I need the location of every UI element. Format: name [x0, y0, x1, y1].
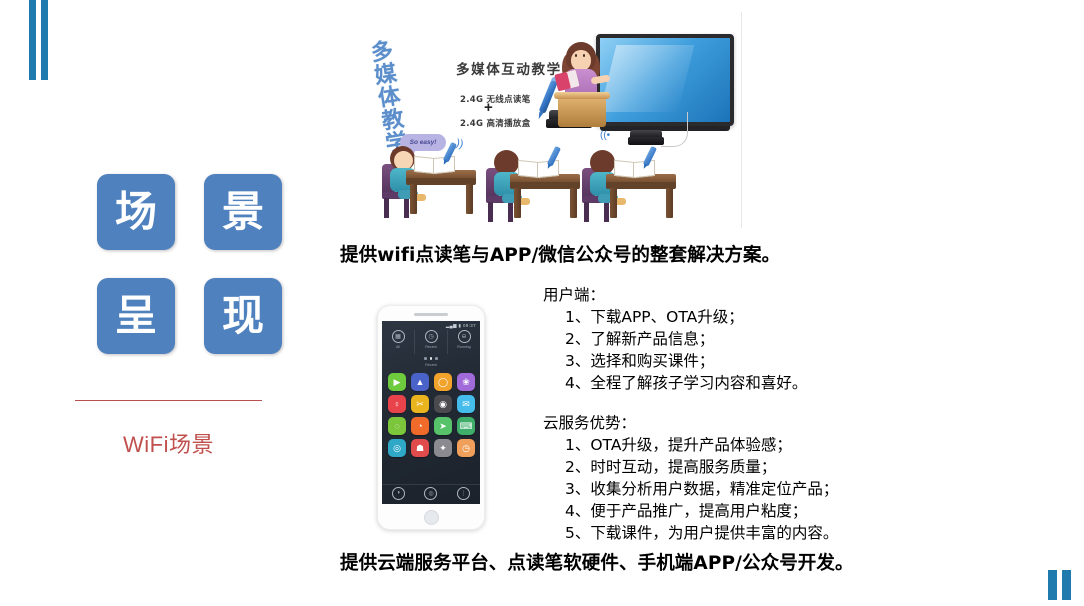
user-section: 用户端： 1、下载APP、OTA升级； 2、了解新产品信息； 3、选择和购买课件… [543, 284, 807, 394]
cloud-section-item: 5、下载课件，为用户提供丰富的内容。 [565, 522, 838, 544]
user-section-item: 1、下载APP、OTA升级； [565, 306, 807, 328]
accent-bar [1062, 570, 1071, 600]
home-button[interactable] [424, 510, 439, 525]
scene-char-grid: 场 景 呈 现 [97, 174, 282, 354]
smartphone-mockup: ▂▄▆ ▮ 09:37 ▦ All ◷ Recent ⊖ Running [377, 305, 485, 530]
user-section-title: 用户端： [543, 284, 807, 306]
tab-label: All [396, 345, 400, 349]
student-at-desk-icon [576, 140, 680, 228]
cloud-section-item: 1、OTA升级，提升产品体验感； [565, 434, 838, 456]
char-box-chang[interactable]: 场 [97, 174, 175, 250]
cloud-section: 云服务优势： 1、OTA升级，提升产品体验感； 2、时时互动，提高服务质量； 3… [543, 412, 838, 544]
clock-icon: ◷ [425, 330, 438, 343]
app-bulb[interactable]: ♀ [388, 395, 406, 413]
accent-bar [1048, 570, 1057, 600]
dock-home-icon[interactable]: ◎ [424, 487, 437, 500]
app-target[interactable]: ◉ [434, 395, 452, 413]
grid-icon: ▦ [392, 330, 405, 343]
wifi-scene-caption: WiFi场景 [75, 427, 262, 459]
app-clover[interactable]: ❀ [457, 373, 475, 391]
user-section-item: 4、全程了解孩子学习内容和喜好。 [565, 372, 807, 394]
app-play[interactable]: ▶ [388, 373, 406, 391]
user-section-item: 3、选择和购买课件； [565, 350, 807, 372]
headline-top: 提供wifi点读笔与APP/微信公众号的整套解决方案。 [340, 241, 780, 267]
dock-back-icon[interactable]: ◑ [392, 487, 405, 500]
app-gallery[interactable]: ▲ [411, 373, 429, 391]
tab-recent[interactable]: ◷ Recent [415, 330, 448, 354]
headline-bottom: 提供云端服务平台、点读笔软硬件、手机端APP/公众号开发。 [340, 549, 854, 575]
cloud-section-item: 3、收集分析用户数据，精准定位产品； [565, 478, 838, 500]
spec-hd-player-box: 2.4G 高清播放盒 [460, 117, 531, 129]
plus-sign: + [484, 100, 493, 115]
char-box-jing[interactable]: 景 [204, 174, 282, 250]
teacher-at-podium-icon [554, 42, 610, 124]
multimedia-teaching-illustration: 多媒体教学 多媒体互动教学系统 2.4G 无线点读笔 + 2.4G 高清播放盒 [338, 12, 742, 228]
app-grid[interactable]: ▶ ▲ ◯ ❀ ♀ ✂ ◉ ✉ ◌ ◔ ➤ ⌨ ◎ ☗ ✦ ◷ [388, 373, 474, 457]
tab-all[interactable]: ▦ All [382, 330, 415, 354]
phone-dock[interactable]: ◑ ◎ ⋮ [382, 484, 480, 501]
user-section-item: 2、了解新产品信息； [565, 328, 807, 350]
red-divider [75, 400, 262, 401]
earpiece-speaker [414, 313, 448, 316]
app-timer[interactable]: ◔ [411, 417, 429, 435]
illustration-right-edge [741, 12, 742, 228]
phone-screen: ▂▄▆ ▮ 09:37 ▦ All ◷ Recent ⊖ Running [382, 321, 480, 504]
bottom-right-accent-bars [1048, 570, 1071, 600]
page-indicator[interactable] [382, 357, 480, 360]
slide-canvas: 场 景 呈 现 WiFi场景 多媒体教学 多媒体互动教学系统 2.4G 无线点读… [0, 0, 1084, 606]
tab-label: Recent [425, 345, 436, 349]
app-contacts[interactable]: ☗ [411, 439, 429, 457]
page-dot[interactable] [424, 357, 427, 360]
char-box-cheng[interactable]: 呈 [97, 278, 175, 354]
app-tools[interactable]: ✂ [411, 395, 429, 413]
page-dot-active[interactable] [430, 357, 433, 360]
spec-wireless-pen: 2.4G 无线点读笔 [460, 93, 531, 105]
app-settings[interactable]: ✦ [434, 439, 452, 457]
app-search[interactable]: ◯ [434, 373, 452, 391]
app-clock[interactable]: ◷ [457, 439, 475, 457]
cloud-section-item: 2、时时互动，提高服务质量； [565, 456, 838, 478]
char-box-xian[interactable]: 现 [204, 278, 282, 354]
app-send[interactable]: ➤ [434, 417, 452, 435]
dock-menu-icon[interactable]: ⋮ [457, 487, 470, 500]
left-panel: 场 景 呈 现 WiFi场景 [0, 0, 330, 606]
status-bar-time: ▂▄▆ ▮ 09:37 [446, 323, 476, 329]
cloud-section-title: 云服务优势： [543, 412, 838, 434]
app-mail[interactable]: ✉ [457, 395, 475, 413]
app-record[interactable]: ◎ [388, 439, 406, 457]
student-at-desk-icon [480, 140, 584, 228]
app-chat[interactable]: ◌ [388, 417, 406, 435]
minus-circle-icon: ⊖ [458, 330, 471, 343]
page-dot[interactable] [435, 357, 438, 360]
tab-running[interactable]: ⊖ Running [448, 330, 480, 354]
student-at-desk-icon: So easy! )) [376, 136, 480, 224]
tab-label: Running [457, 345, 470, 349]
phone-tab-bar[interactable]: ▦ All ◷ Recent ⊖ Running [382, 330, 480, 354]
cloud-section-item: 4、便于产品推广，提高用户粘度； [565, 500, 838, 522]
page-label: Recent [382, 363, 480, 367]
app-keyboard[interactable]: ⌨ [457, 417, 475, 435]
